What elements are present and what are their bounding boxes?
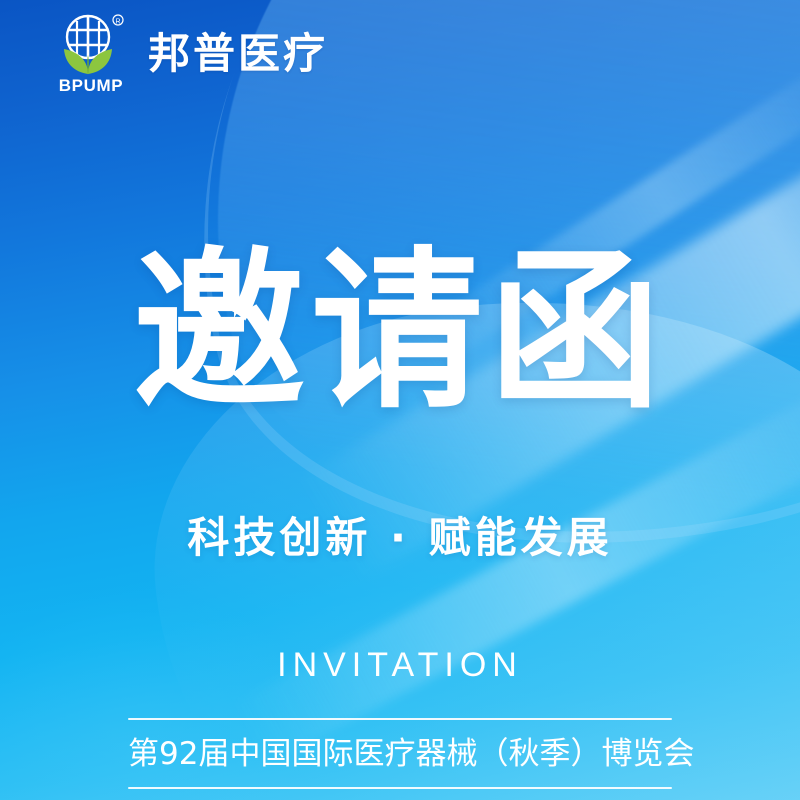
logo-wordmark: BPUMP — [52, 77, 130, 94]
english-caption: INVITATION — [0, 648, 800, 682]
brand-lockup: R BPUMP 邦普医疗 — [52, 14, 328, 94]
footer-block: 第92届中国国际医疗器械（秋季）博览会 — [128, 718, 672, 789]
bpump-circle-leaf-logo-icon: R BPUMP — [52, 14, 130, 94]
invitation-poster: R BPUMP 邦普医疗 邀请函 科技创新 · 赋能发展 INVITATION … — [0, 0, 800, 800]
page-title: 邀请函 — [0, 246, 800, 418]
event-name: 第92届中国国际医疗器械（秋季）博览会 — [128, 720, 672, 787]
diagonal-streak-lower — [234, 375, 800, 765]
svg-text:R: R — [115, 18, 120, 25]
slogan: 科技创新 · 赋能发展 — [0, 513, 800, 563]
divider-bottom — [128, 787, 672, 789]
company-name: 邦普医疗 — [148, 33, 328, 75]
